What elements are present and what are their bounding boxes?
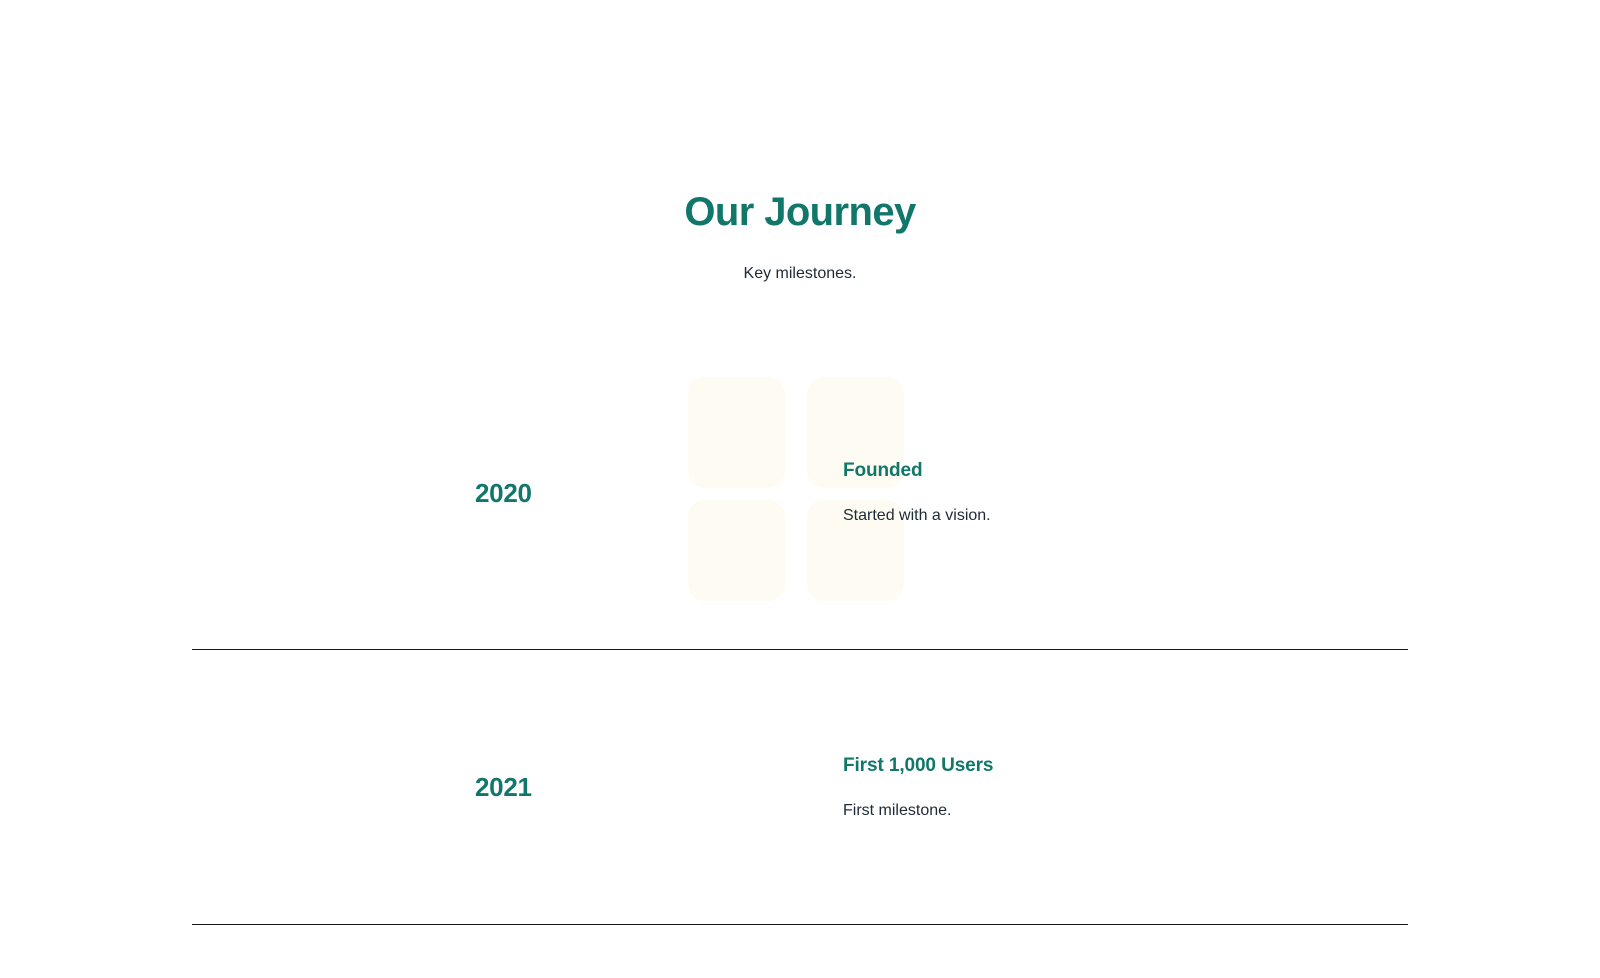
timeline-entry-description: First milestone. — [843, 778, 1408, 822]
timeline-entry-2021: 2021 First 1,000 Users First milestone. — [192, 650, 1408, 925]
timeline-entry-heading: First 1,000 Users — [843, 753, 1408, 778]
timeline-year-label: 2021 — [192, 771, 632, 803]
page-subtitle: Key milestones. — [0, 236, 1600, 285]
page-title: Our Journey — [0, 188, 1600, 236]
section-header: Our Journey Key milestones. — [0, 0, 1600, 285]
timeline-list: 2020 Founded Started with a vision. 2021… — [192, 336, 1408, 925]
timeline-entry-description: Started with a vision. — [843, 483, 1408, 527]
page-root: Our Journey Key milestones. 2020 Founded… — [0, 0, 1600, 978]
timeline-year-label: 2020 — [192, 477, 632, 509]
timeline-entry-body: Founded Started with a vision. — [632, 458, 1408, 527]
timeline-entry-heading: Founded — [843, 458, 1408, 483]
timeline-entry-body: First 1,000 Users First milestone. — [632, 753, 1408, 822]
timeline-entry-2020: 2020 Founded Started with a vision. — [192, 336, 1408, 650]
